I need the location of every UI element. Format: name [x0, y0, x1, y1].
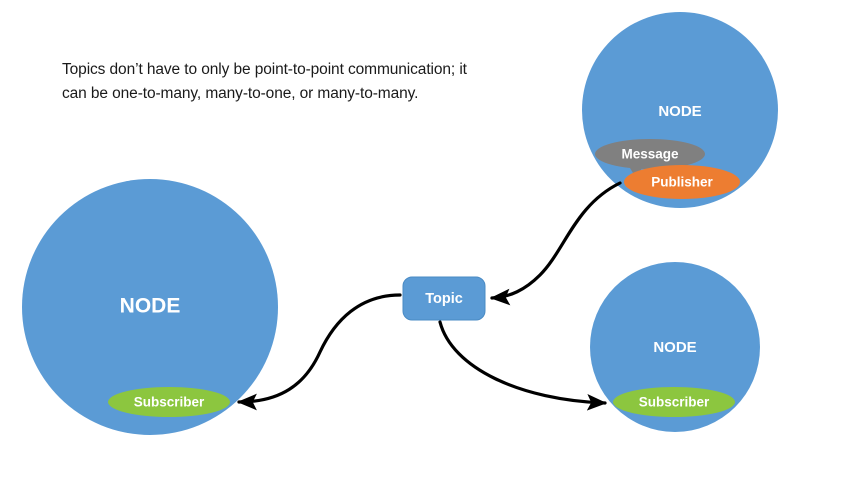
edge-publisher-to-topic[interactable]: [492, 183, 620, 298]
node-label-left: NODE: [120, 295, 181, 318]
publisher-pill[interactable]: Publisher: [624, 165, 740, 199]
subscriber-pill-bottom-right-label: Subscriber: [639, 395, 710, 410]
edge-topic-to-subscriber-bottom-right[interactable]: [440, 322, 605, 403]
message-pill-label: Message: [621, 147, 679, 162]
node-label-top-right: NODE: [658, 103, 701, 120]
node-label-bottom-right: NODE: [653, 339, 696, 356]
subscriber-pill-left-label: Subscriber: [134, 395, 205, 410]
topic-box[interactable]: Topic: [403, 277, 485, 320]
subscriber-pill-left[interactable]: Subscriber: [108, 387, 230, 417]
pubsub-topic-diagram: NODE NODE NODE Message Publisher Subscri…: [0, 0, 854, 480]
publisher-pill-label: Publisher: [651, 175, 713, 190]
subscriber-pill-bottom-right[interactable]: Subscriber: [613, 387, 735, 417]
topic-box-label: Topic: [425, 291, 463, 307]
slide-canvas: Topics don’t have to only be point-to-po…: [0, 0, 854, 480]
